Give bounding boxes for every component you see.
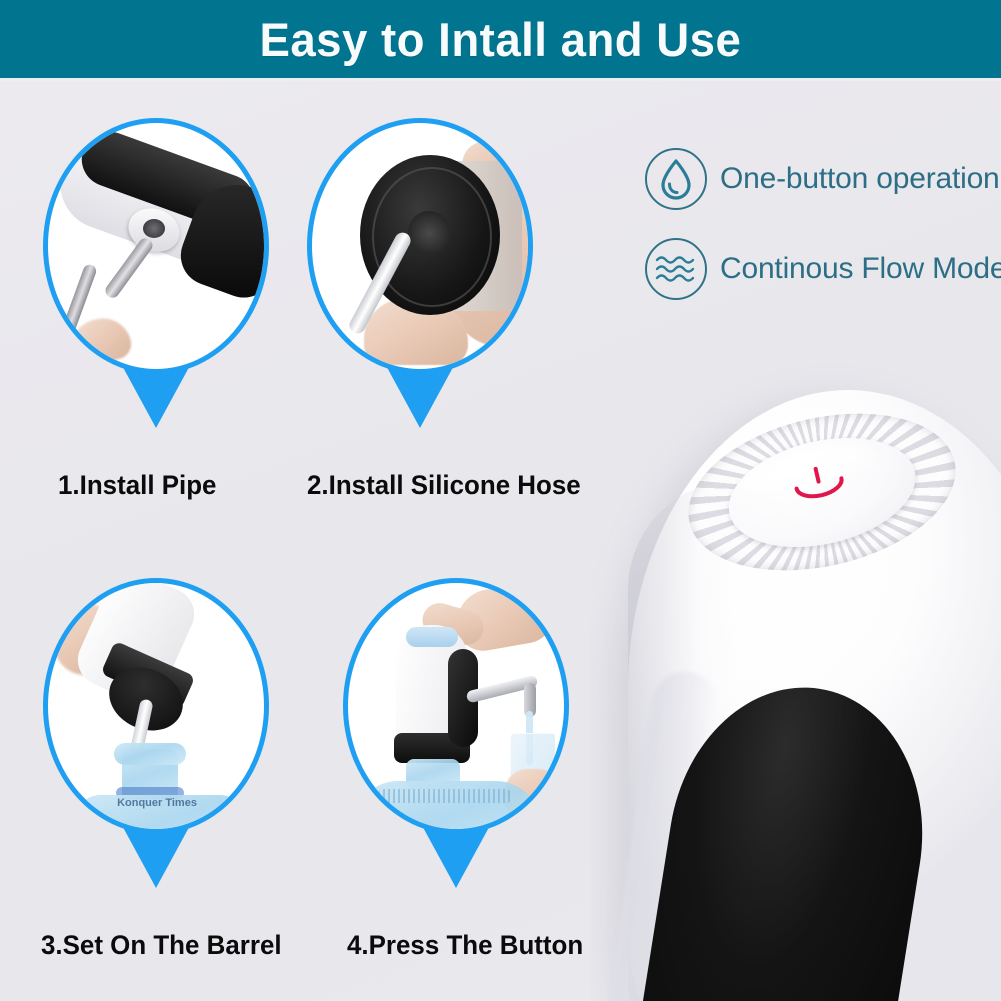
step-photo-1 — [43, 118, 269, 374]
water-drop-glyph — [656, 157, 696, 201]
photo-install-silicone-hose — [312, 123, 528, 369]
infographic-page: Easy to Intall and Use One-button operat… — [0, 0, 1001, 1001]
photo-watermark: Konquer Times — [102, 797, 212, 815]
step-pin-4: 4.Press The Button — [343, 578, 569, 888]
feature-label: Continous Flow Mode — [720, 252, 1001, 286]
header-banner: Easy to Intall and Use — [0, 0, 1001, 78]
step-pin-1: 1.Install Pipe — [43, 118, 269, 428]
step-caption-2: 2.Install Silicone Hose — [307, 470, 581, 501]
page-title: Easy to Intall and Use — [260, 12, 742, 67]
pump-top-button — [406, 627, 458, 647]
feature-label: One-button operation — [720, 162, 1000, 196]
photo-press-the-button — [348, 583, 564, 829]
water-drop-icon — [645, 148, 707, 210]
port-hole — [143, 219, 165, 238]
step-caption-1: 1.Install Pipe — [58, 470, 216, 501]
step-pin-2: 2.Install Silicone Hose — [307, 118, 533, 428]
photo-install-pipe — [48, 123, 264, 369]
photo-set-on-the-barrel: Konquer Times — [48, 583, 264, 829]
metal-pipe-upper — [103, 236, 155, 301]
step-pin-3: Konquer Times 3.Set On The Barrel — [43, 578, 269, 888]
step-photo-4 — [343, 578, 569, 834]
feature-continuous-flow-mode: Continous Flow Mode — [645, 238, 1001, 300]
banner-divider — [0, 78, 1001, 81]
step-photo-3: Konquer Times — [43, 578, 269, 834]
bottle-collar — [114, 743, 186, 765]
cap-hub — [408, 211, 450, 255]
hero-product-photo — [590, 330, 1001, 1001]
barrel-texture — [378, 789, 512, 803]
step-caption-4: 4.Press The Button — [347, 930, 583, 961]
step-caption-3: 3.Set On The Barrel — [41, 930, 282, 961]
water-waves-glyph — [654, 252, 698, 286]
feature-one-button-operation: One-button operation — [645, 148, 1000, 210]
water-waves-icon — [645, 238, 707, 300]
step-photo-2 — [307, 118, 533, 374]
